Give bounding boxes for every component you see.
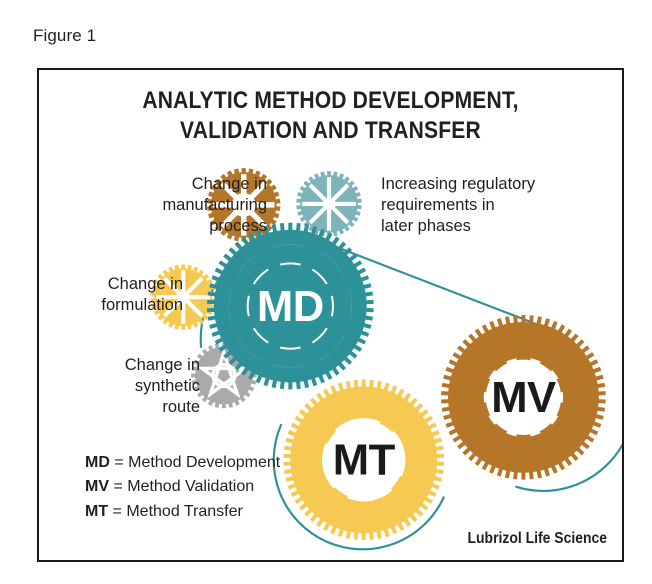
legend-text-mt: = Method Transfer — [108, 503, 243, 520]
attribution-text: Lubrizol Life Science — [467, 530, 607, 548]
page-title: ANALYTIC METHOD DEVELOPMENT, VALIDATION … — [80, 86, 581, 146]
callout-formulation: Change in formulation — [55, 274, 183, 316]
figure-caption-label: Figure 1 — [33, 26, 96, 46]
synthetic-gear-icon — [191, 343, 256, 408]
legend-item-md: MD = Method Development — [85, 451, 280, 475]
mv-gear[interactable]: MV — [441, 315, 606, 480]
legend-abbr-mt: MT — [85, 503, 108, 520]
callout-synthetic-route: Change in synthetic route — [73, 355, 200, 418]
figure-box: ANALYTIC METHOD DEVELOPMENT, VALIDATION … — [37, 68, 624, 562]
legend: MD = Method Development MV = Method Vali… — [85, 451, 280, 524]
legend-item-mt: MT = Method Transfer — [85, 500, 280, 524]
callout-regulatory-requirements: Increasing regulatory requirements in la… — [381, 174, 581, 237]
md-gear-label: MD — [257, 282, 324, 331]
legend-item-mv: MV = Method Validation — [85, 475, 280, 499]
legend-text-mv: = Method Validation — [109, 478, 254, 495]
mt-gear[interactable]: MT — [283, 379, 444, 540]
legend-abbr-mv: MV — [85, 478, 109, 495]
mt-gear-label: MT — [333, 436, 396, 485]
legend-text-md: = Method Development — [110, 454, 280, 471]
md-gear[interactable]: MD — [207, 223, 374, 390]
legend-abbr-md: MD — [85, 454, 110, 471]
regulatory-gear-icon — [296, 171, 362, 236]
callout-manufacturing-process: Change in manufacturing process — [99, 174, 267, 237]
mv-gear-label: MV — [491, 373, 556, 422]
